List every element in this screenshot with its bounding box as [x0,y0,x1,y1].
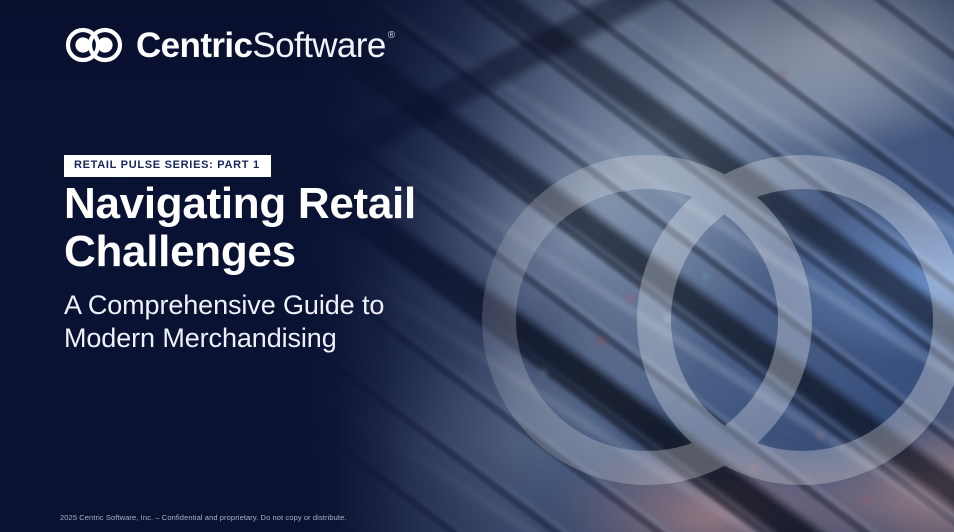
wordmark-software: Software [252,28,385,63]
centric-interlocking-circles-logo-icon [64,27,124,63]
page-title: Navigating Retail Challenges [64,180,484,277]
brand-wordmark: Centric Software ® [136,28,395,63]
wordmark-centric: Centric [136,28,252,63]
page-subtitle-line-1: A Comprehensive Guide to [64,290,384,320]
page-title-line-1: Navigating Retail [64,179,416,228]
page-title-line-2: Challenges [64,227,296,276]
series-badge: RETAIL PULSE SERIES: PART 1 [64,155,271,177]
page-subtitle: A Comprehensive Guide to Modern Merchand… [64,289,464,355]
brand-logo-lockup[interactable]: Centric Software ® [64,27,395,63]
footer-copyright: 2025 Centric Software, Inc. – Confidenti… [60,514,347,522]
page-subtitle-line-2: Modern Merchandising [64,323,337,353]
registered-trademark-icon: ® [388,31,395,41]
slide-content: Centric Software ® RETAIL PULSE SERIES: … [0,0,954,532]
title-slide: Centric Software ® RETAIL PULSE SERIES: … [0,0,954,532]
